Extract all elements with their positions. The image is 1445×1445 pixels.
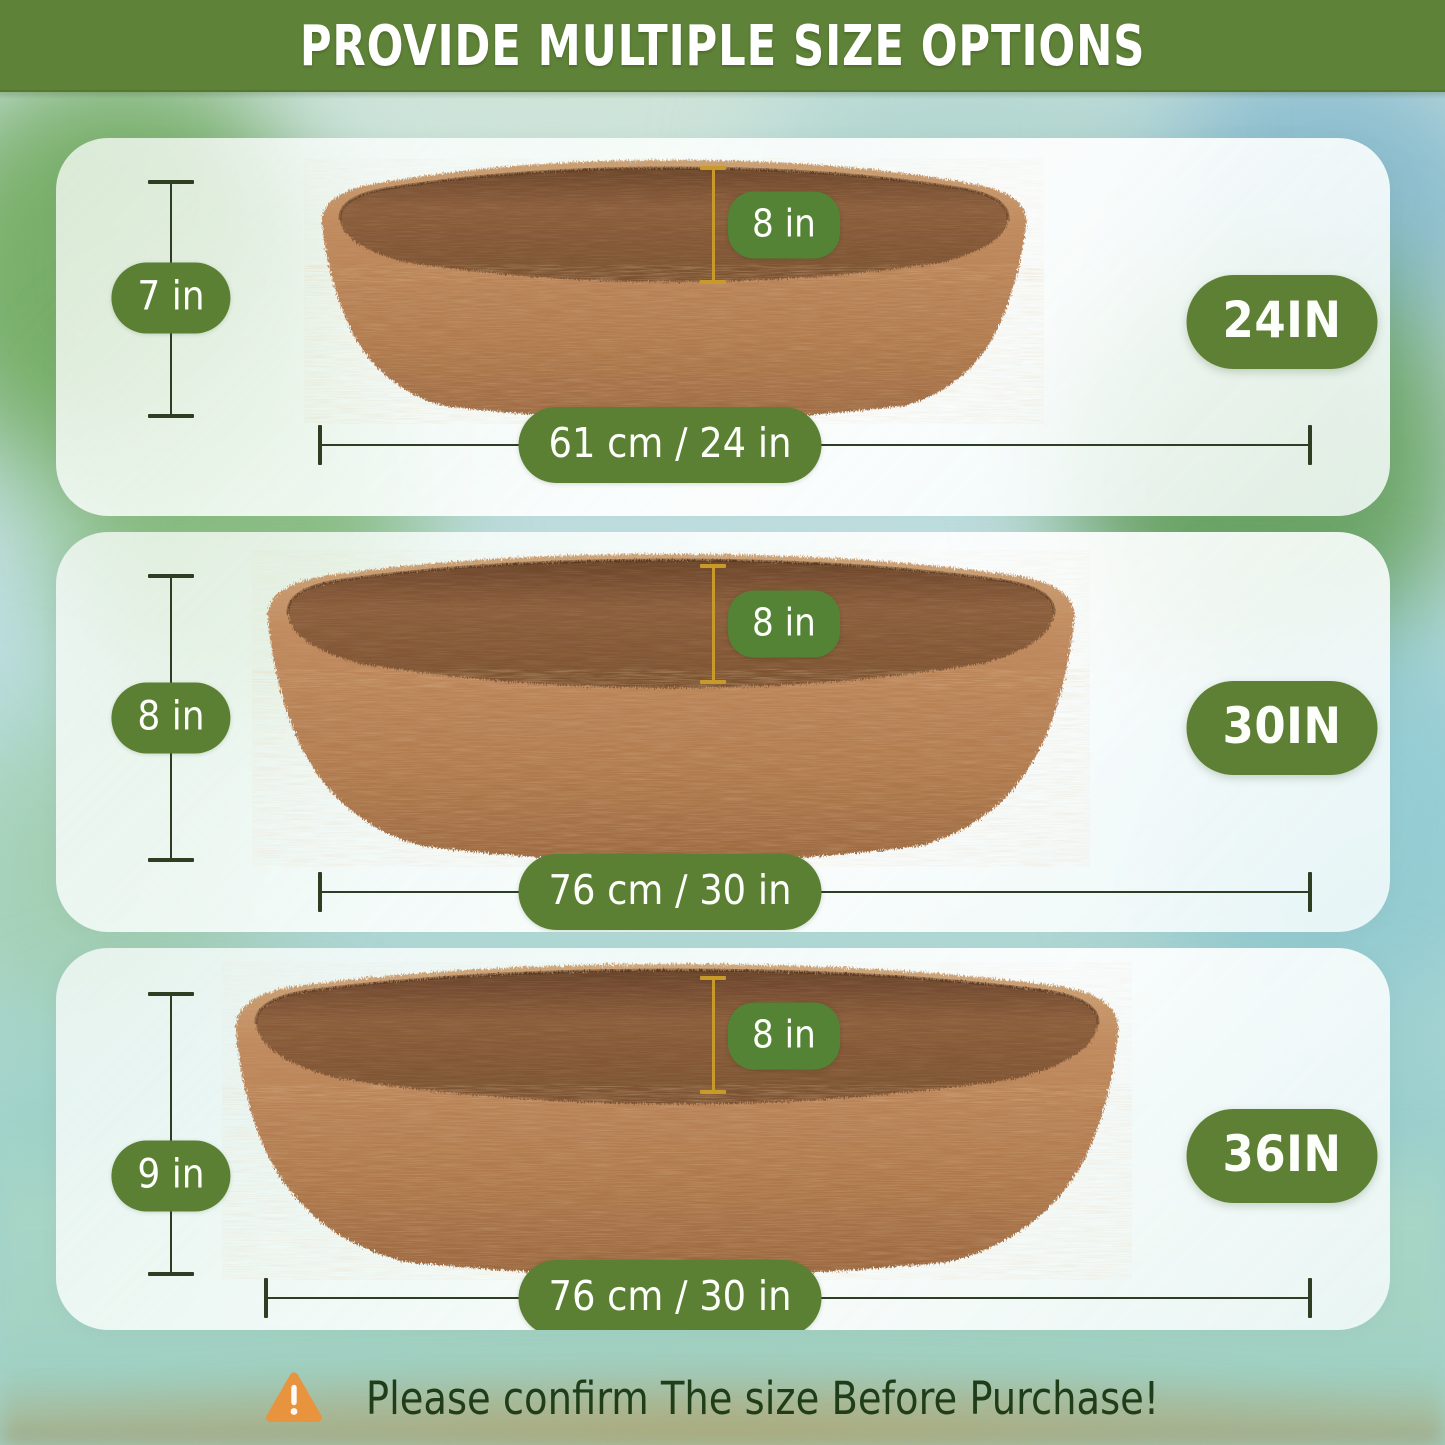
height-label: 9 in — [111, 1141, 230, 1212]
inner-depth-dimension — [700, 976, 726, 1094]
dimension-cap-top — [148, 574, 194, 578]
size-option-card[interactable]: 8 in 7 in 61 cm / 24 in 24IN — [56, 138, 1390, 516]
size-badge[interactable]: 30IN — [1187, 681, 1378, 775]
inner-depth-label: 8 in — [728, 1003, 840, 1070]
dimension-cap-bottom — [700, 1090, 726, 1094]
inner-depth-label: 8 in — [728, 591, 840, 658]
size-badge[interactable]: 36IN — [1187, 1109, 1378, 1203]
purchase-warning-note: Please confirm The size Before Purchase! — [0, 1352, 1445, 1444]
dimension-cap-bottom — [148, 1272, 194, 1276]
dimension-cap-bottom — [148, 414, 194, 418]
purchase-warning-text: Please confirm The size Before Purchase! — [366, 1372, 1159, 1425]
width-label: 61 cm / 24 in — [519, 407, 822, 483]
dimension-line — [170, 992, 172, 1276]
dimension-cap-right — [1308, 425, 1312, 465]
dimension-cap-top — [148, 992, 194, 996]
dimension-line — [712, 166, 715, 284]
width-label: 76 cm / 30 in — [519, 1260, 822, 1330]
height-dimension — [148, 992, 194, 1276]
coco-liner-illustration — [252, 550, 1090, 868]
inner-depth-dimension — [700, 564, 726, 684]
dimension-line — [712, 564, 715, 684]
dimension-line — [712, 976, 715, 1094]
coco-liner-illustration — [304, 154, 1044, 424]
inner-depth-dimension — [700, 166, 726, 284]
dimension-cap-bottom — [148, 858, 194, 862]
coco-liner-illustration — [222, 962, 1132, 1280]
dimension-cap-top — [700, 166, 726, 170]
warning-triangle-icon — [265, 1371, 323, 1425]
dimension-cap-bottom — [700, 680, 726, 684]
size-badge[interactable]: 24IN — [1187, 275, 1378, 369]
dimension-cap-left — [318, 872, 322, 912]
size-option-card[interactable]: 8 in 9 in 76 cm / 30 in 36IN — [56, 948, 1390, 1330]
dimension-cap-top — [700, 564, 726, 568]
inner-depth-label: 8 in — [728, 192, 840, 259]
dimension-cap-bottom — [700, 280, 726, 284]
page-title: PROVIDE MULTIPLE SIZE OPTIONS — [300, 14, 1145, 79]
width-label: 76 cm / 30 in — [519, 854, 822, 930]
dimension-cap-right — [1308, 1278, 1312, 1318]
header-banner: PROVIDE MULTIPLE SIZE OPTIONS — [0, 0, 1445, 92]
size-option-card[interactable]: 8 in 8 in 76 cm / 30 in 30IN — [56, 532, 1390, 932]
height-label: 7 in — [111, 263, 230, 334]
dimension-cap-left — [318, 425, 322, 465]
dimension-cap-left — [264, 1278, 268, 1318]
dimension-cap-top — [148, 180, 194, 184]
dimension-cap-right — [1308, 872, 1312, 912]
height-label: 8 in — [111, 683, 230, 754]
size-option-panels: 8 in 7 in 61 cm / 24 in 24IN — [0, 92, 1445, 1337]
dimension-cap-top — [700, 976, 726, 980]
